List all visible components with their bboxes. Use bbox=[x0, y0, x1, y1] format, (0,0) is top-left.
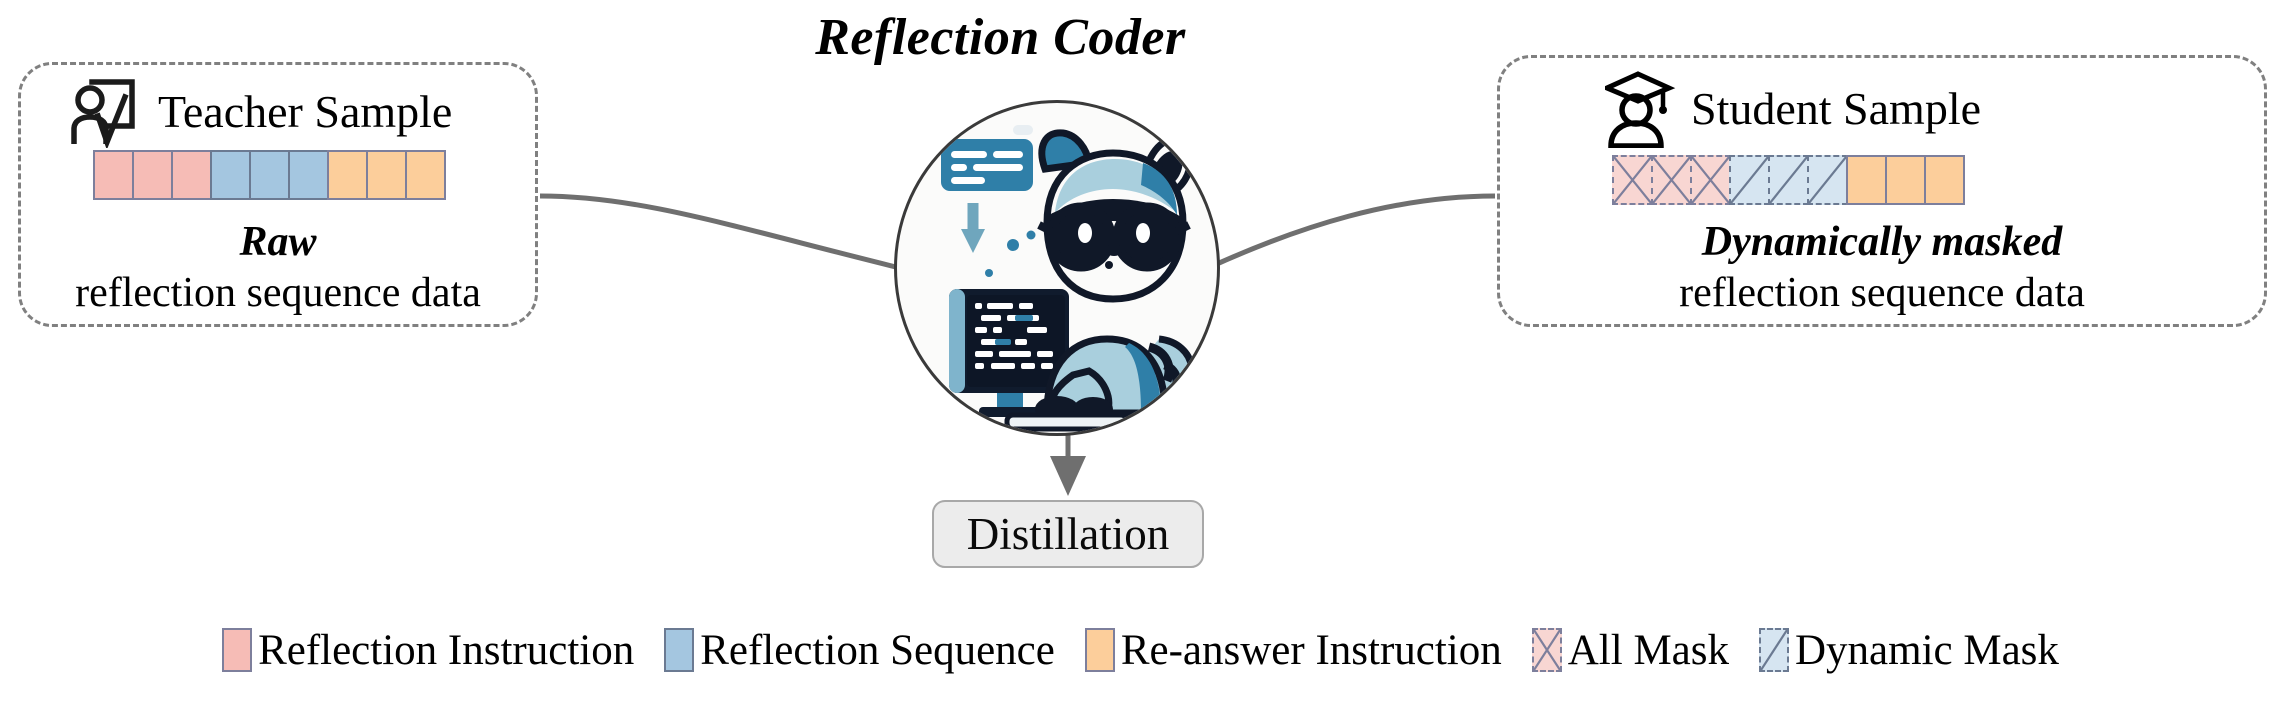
cell-pattern-cross bbox=[1692, 157, 1729, 203]
token-cell-reflection-sequence bbox=[288, 150, 329, 200]
legend-swatch-icon bbox=[1759, 628, 1789, 672]
student-connector bbox=[1208, 196, 1495, 268]
student-caption-normal: reflection sequence data bbox=[1497, 269, 2267, 317]
legend-label: Dynamic Mask bbox=[1795, 629, 2059, 672]
cell-pattern-diagonal bbox=[1761, 630, 1787, 670]
raccoon-coder-mascot bbox=[894, 100, 1220, 436]
graduation-cap-person-icon bbox=[1605, 70, 1677, 148]
token-cell-re-answer-instruction bbox=[405, 150, 446, 200]
token-cell-re-answer-instruction bbox=[1846, 155, 1887, 205]
token-cell-reflection-instruction bbox=[132, 150, 173, 200]
legend-re-answer-instruction: Re-answer Instruction bbox=[1085, 628, 1502, 672]
legend-label: Reflection Sequence bbox=[700, 629, 1055, 672]
student-caption-strong: Dynamically masked bbox=[1497, 218, 2267, 266]
distillation-arrow-head bbox=[1050, 456, 1086, 496]
token-cell-all-mask bbox=[1651, 155, 1692, 205]
cell-pattern-cross bbox=[1614, 157, 1651, 203]
legend-all-mask: All Mask bbox=[1532, 628, 1729, 672]
legend-swatch-icon bbox=[222, 628, 252, 672]
cell-pattern-diagonal bbox=[1731, 157, 1768, 203]
legend-label: Reflection Instruction bbox=[258, 629, 634, 672]
legend-swatch-icon bbox=[664, 628, 694, 672]
legend-reflection-instruction: Reflection Instruction bbox=[222, 628, 634, 672]
page-title-text: Reflection Coder bbox=[815, 9, 1186, 66]
token-cell-re-answer-instruction bbox=[1885, 155, 1926, 205]
legend-swatch-icon bbox=[1532, 628, 1562, 672]
cell-pattern-cross bbox=[1653, 157, 1690, 203]
legend: Reflection InstructionReflection Sequenc… bbox=[0, 628, 2281, 672]
token-cell-re-answer-instruction bbox=[1924, 155, 1965, 205]
token-cell-re-answer-instruction bbox=[366, 150, 407, 200]
token-cell-reflection-instruction bbox=[171, 150, 212, 200]
legend-label: Re-answer Instruction bbox=[1121, 629, 1502, 672]
token-cell-reflection-instruction bbox=[93, 150, 134, 200]
token-cell-all-mask bbox=[1690, 155, 1731, 205]
student-token-sequence bbox=[1612, 155, 1965, 205]
token-cell-all-mask bbox=[1612, 155, 1653, 205]
legend-swatch-icon bbox=[1085, 628, 1115, 672]
cell-pattern-cross bbox=[1534, 630, 1560, 670]
token-cell-reflection-sequence bbox=[210, 150, 251, 200]
token-cell-reflection-sequence bbox=[249, 150, 290, 200]
legend-dynamic-mask: Dynamic Mask bbox=[1759, 628, 2059, 672]
teacher-token-sequence bbox=[93, 150, 446, 200]
distillation-box[interactable]: Distillation bbox=[932, 500, 1204, 568]
distillation-label: Distillation bbox=[967, 508, 1170, 560]
teacher-connector bbox=[540, 196, 900, 268]
legend-label: All Mask bbox=[1568, 629, 1729, 672]
teacher-caption-strong: Raw bbox=[18, 218, 538, 266]
teacher-sample-header: Teacher Sample bbox=[70, 76, 452, 148]
teacher-caption-normal: reflection sequence data bbox=[18, 269, 538, 317]
cell-pattern-diagonal bbox=[1809, 157, 1846, 203]
student-sample-heading: Student Sample bbox=[1691, 86, 1981, 132]
teacher-board-check-icon bbox=[70, 76, 144, 148]
token-cell-dynamic-mask bbox=[1807, 155, 1848, 205]
student-sample-header: Student Sample bbox=[1605, 70, 1981, 148]
teacher-sample-heading: Teacher Sample bbox=[158, 89, 452, 135]
token-cell-dynamic-mask bbox=[1729, 155, 1770, 205]
token-cell-re-answer-instruction bbox=[327, 150, 368, 200]
cell-pattern-diagonal bbox=[1770, 157, 1807, 203]
legend-reflection-sequence: Reflection Sequence bbox=[664, 628, 1055, 672]
token-cell-dynamic-mask bbox=[1768, 155, 1809, 205]
